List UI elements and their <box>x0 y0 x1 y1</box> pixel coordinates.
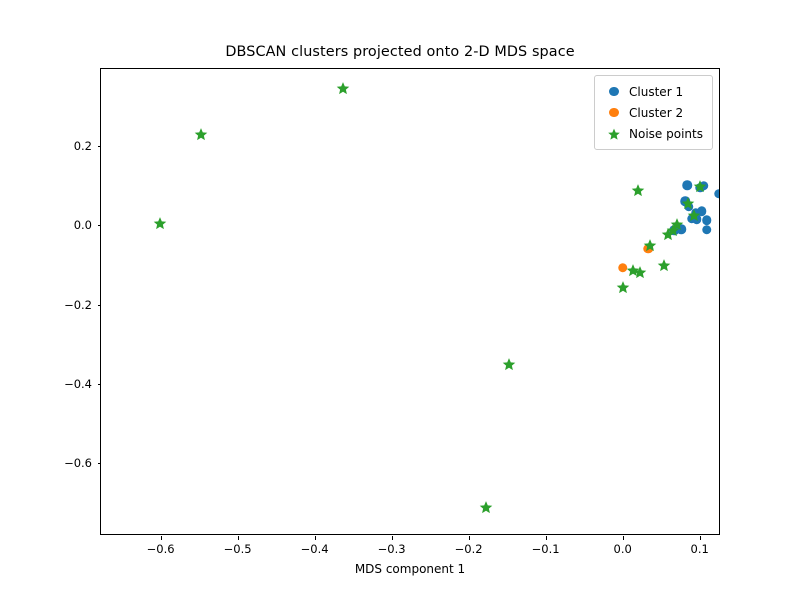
y-tick-label: 0.0 <box>74 218 92 232</box>
plot-axes: −0.6−0.5−0.4−0.3−0.2−0.10.00.10.20.0−0.2… <box>100 68 720 535</box>
y-tick-label: −0.6 <box>64 456 92 470</box>
circle-marker-icon <box>601 87 627 97</box>
star-marker-icon <box>601 128 627 140</box>
x-tick-mark <box>392 536 393 540</box>
y-tick-label: −0.4 <box>64 377 92 391</box>
x-tick-mark <box>315 536 316 540</box>
circle-marker-icon <box>601 108 627 118</box>
legend-label: Cluster 1 <box>627 85 683 99</box>
x-tick-label: 0.0 <box>614 542 632 556</box>
x-axis-label: MDS component 1 <box>100 562 720 576</box>
data-point-cluster-1 <box>702 215 712 225</box>
chart-legend[interactable]: Cluster 1Cluster 2Noise points <box>594 75 713 150</box>
data-point-noise-points <box>693 179 706 192</box>
x-tick-mark <box>700 536 701 540</box>
x-tick-mark <box>161 536 162 540</box>
data-point-noise-points <box>337 82 350 95</box>
matplotlib-figure: DBSCAN clusters projected onto 2-D MDS s… <box>0 0 800 600</box>
x-tick-mark <box>469 536 470 540</box>
x-tick-label: −0.1 <box>532 542 560 556</box>
x-tick-label: 0.1 <box>691 542 709 556</box>
y-tick-mark <box>98 384 102 385</box>
x-tick-label: −0.4 <box>301 542 329 556</box>
x-tick-label: −0.6 <box>147 542 175 556</box>
data-point-noise-points <box>480 501 493 514</box>
data-point-noise-points <box>627 264 640 277</box>
data-point-noise-points <box>616 280 629 293</box>
x-tick-mark <box>546 536 547 540</box>
legend-entry-cluster-1[interactable]: Cluster 1 <box>601 81 703 102</box>
legend-entry-cluster-2[interactable]: Cluster 2 <box>601 102 703 123</box>
data-point-noise-points <box>644 239 657 252</box>
data-point-noise-points <box>195 128 208 141</box>
data-point-noise-points <box>632 183 645 196</box>
data-point-cluster-1 <box>683 180 693 190</box>
y-tick-mark <box>98 146 102 147</box>
data-point-noise-points <box>666 223 679 236</box>
data-point-cluster-1 <box>714 189 719 199</box>
data-point-noise-points <box>153 216 166 229</box>
y-tick-mark <box>98 225 102 226</box>
x-tick-mark <box>238 536 239 540</box>
legend-entry-noise-points[interactable]: Noise points <box>601 123 703 144</box>
x-tick-label: −0.3 <box>378 542 406 556</box>
data-point-noise-points <box>658 258 671 271</box>
y-tick-label: 0.2 <box>74 139 92 153</box>
legend-label: Cluster 2 <box>627 106 683 120</box>
y-tick-mark <box>98 305 102 306</box>
data-point-noise-points <box>502 358 515 371</box>
data-point-cluster-1 <box>702 225 712 235</box>
x-tick-label: −0.2 <box>455 542 483 556</box>
chart-title: DBSCAN clusters projected onto 2-D MDS s… <box>0 44 800 60</box>
legend-label: Noise points <box>627 127 703 141</box>
x-tick-label: −0.5 <box>224 542 252 556</box>
y-tick-mark <box>98 463 102 464</box>
data-point-noise-points <box>688 208 701 221</box>
y-tick-label: −0.2 <box>64 298 92 312</box>
x-tick-mark <box>623 536 624 540</box>
